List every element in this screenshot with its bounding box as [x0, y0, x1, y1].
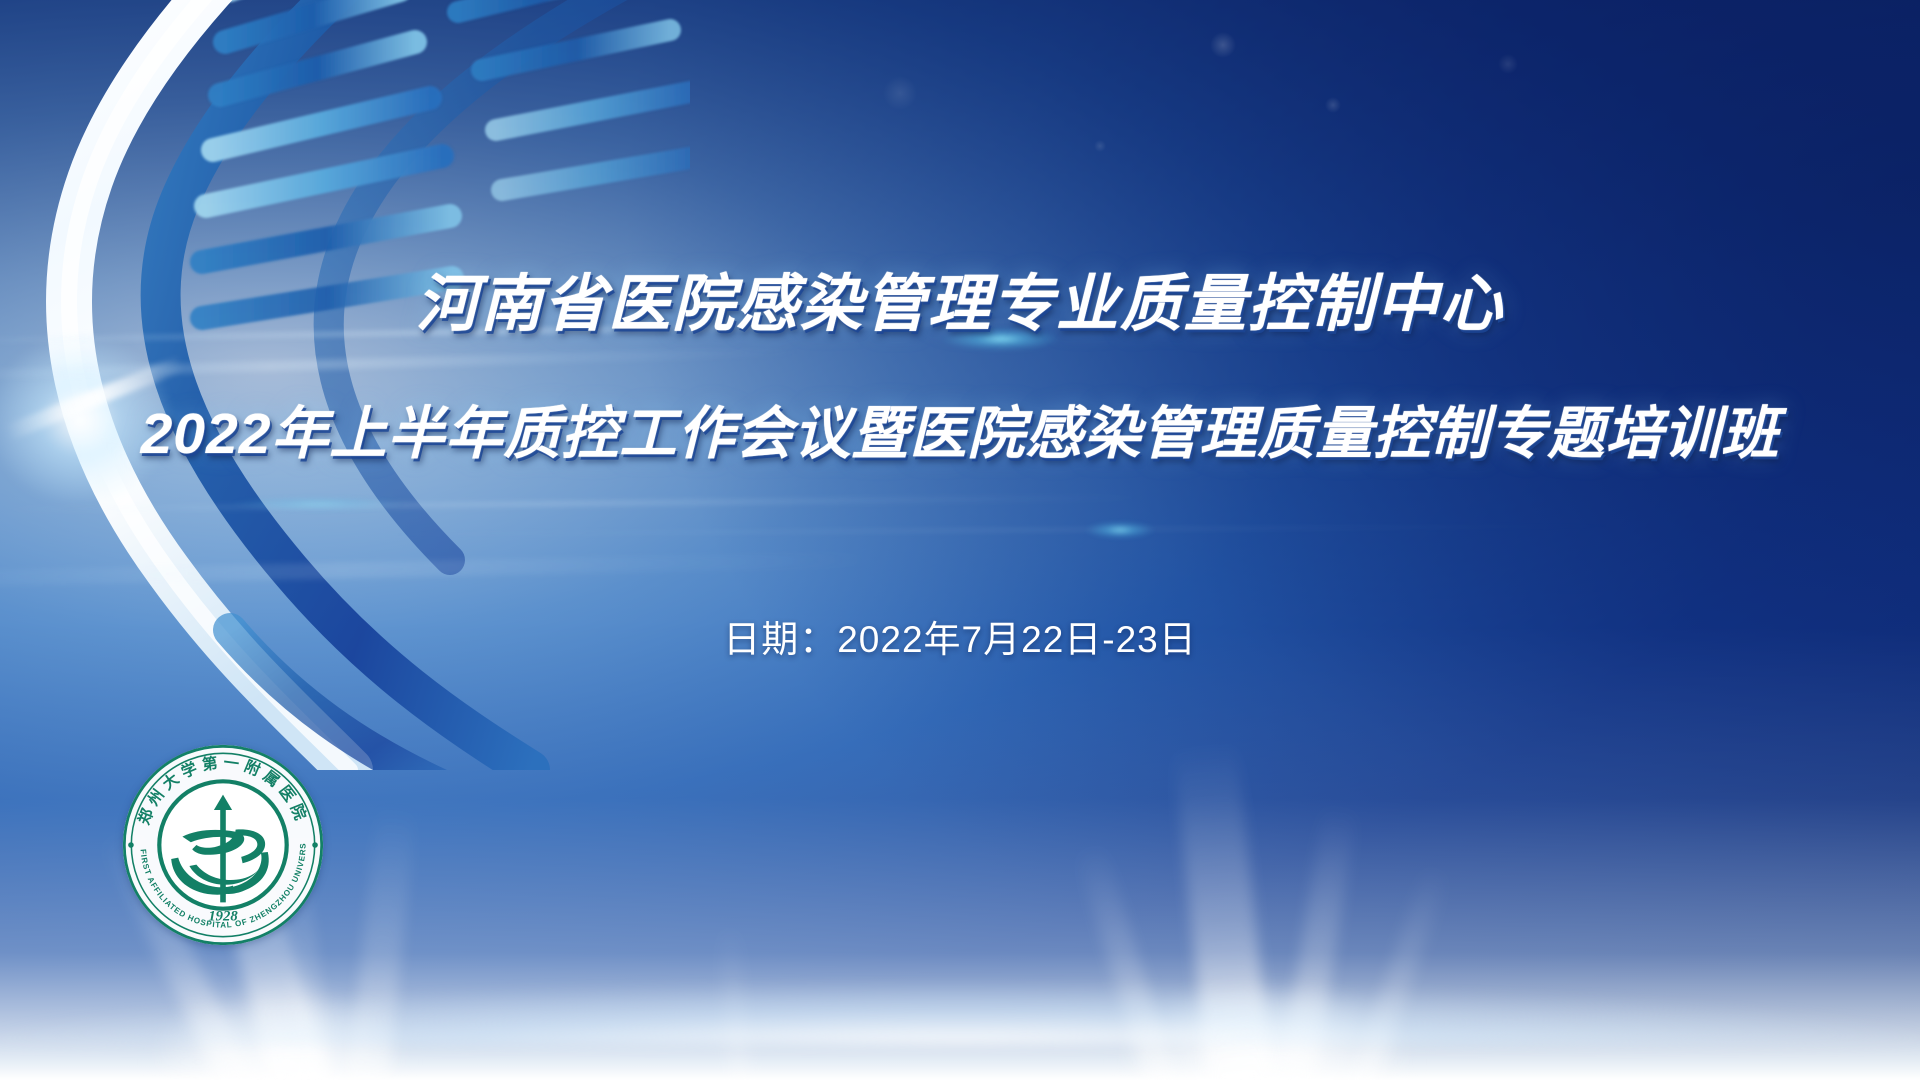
slide-subtitle: 2022年上半年质控工作会议暨医院感染管理质量控制专题培训班 [0, 388, 1920, 470]
logo-year: 1928 [208, 909, 238, 925]
presentation-slide: 河南省医院感染管理专业质量控制中心 2022年上半年质控工作会议暨医院感染管理质… [0, 0, 1920, 1080]
hospital-logo: 郑州大学第一附属医院 THE FIRST AFFILIATED HOSPITAL… [118, 740, 328, 950]
horizon-glow [0, 965, 1920, 1045]
slide-date-line: 日期：2022年7月22日-23日 [0, 609, 1920, 663]
slide-main-title: 河南省医院感染管理专业质量控制中心 [0, 253, 1920, 343]
